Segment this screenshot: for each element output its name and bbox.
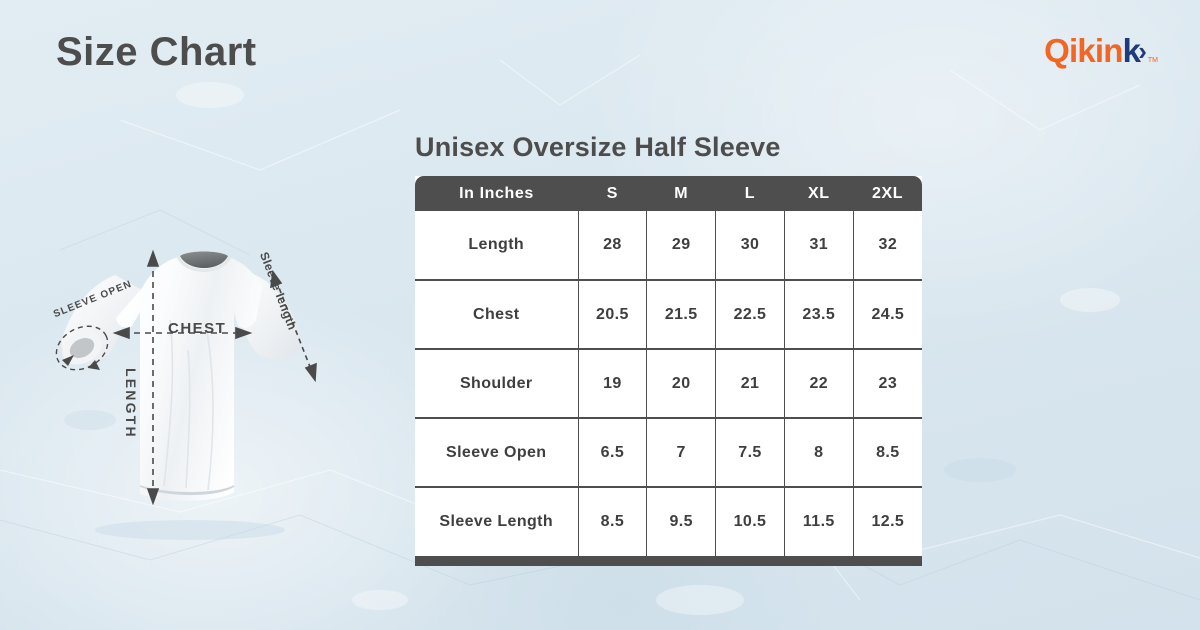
- table-title: Unisex Oversize Half Sleeve: [415, 132, 922, 163]
- cell-sleeve-open-s: 6.5: [578, 418, 647, 487]
- table-row: Shoulder 19 20 21 22 23: [415, 349, 922, 418]
- cell-shoulder-s: 19: [578, 349, 647, 418]
- cell-shoulder-2xl: 23: [853, 349, 922, 418]
- cell-shoulder-m: 20: [647, 349, 716, 418]
- cell-sleeve-length-l: 10.5: [716, 487, 785, 556]
- column-header-l: L: [716, 176, 785, 211]
- column-header-m: M: [647, 176, 716, 211]
- row-label-chest: Chest: [415, 280, 578, 349]
- cell-sleeve-length-s: 8.5: [578, 487, 647, 556]
- table-row: Sleeve Open 6.5 7 7.5 8 8.5: [415, 418, 922, 487]
- table-body: Length 28 29 30 31 32 Chest 20.5 21.5 22…: [415, 211, 922, 556]
- table-header-row: In Inches S M L XL 2XL: [415, 176, 922, 211]
- row-label-shoulder: Shoulder: [415, 349, 578, 418]
- row-label-sleeve-open: Sleeve Open: [415, 418, 578, 487]
- size-chart-table: In Inches S M L XL 2XL Length 28 29 30 3…: [415, 176, 922, 556]
- cell-chest-l: 22.5: [716, 280, 785, 349]
- trademark-icon: TM: [1148, 57, 1158, 64]
- table-header: In Inches S M L XL 2XL: [415, 176, 922, 211]
- cell-sleeve-length-xl: 11.5: [784, 487, 853, 556]
- column-header-xl: XL: [784, 176, 853, 211]
- cell-chest-2xl: 24.5: [853, 280, 922, 349]
- qikink-logo[interactable]: Qikink › TM: [1044, 30, 1158, 70]
- size-chart-panel: Unisex Oversize Half Sleeve In Inches S …: [415, 132, 922, 566]
- cell-chest-m: 21.5: [647, 280, 716, 349]
- cell-sleeve-length-m: 9.5: [647, 487, 716, 556]
- cell-sleeve-open-m: 7: [647, 418, 716, 487]
- logo-orange-text: Qikin: [1044, 32, 1123, 69]
- cell-length-2xl: 32: [853, 211, 922, 280]
- label-length: LENGTH: [123, 368, 139, 439]
- cell-length-m: 29: [647, 211, 716, 280]
- table-row: Chest 20.5 21.5 22.5 23.5 24.5: [415, 280, 922, 349]
- cell-sleeve-open-l: 7.5: [716, 418, 785, 487]
- cell-shoulder-l: 21: [716, 349, 785, 418]
- tshirt-illustration: CHEST LENGTH SLEEVE OPEN Sleeve length: [20, 200, 400, 560]
- cell-length-s: 28: [578, 211, 647, 280]
- row-label-sleeve-length: Sleeve Length: [415, 487, 578, 556]
- cell-length-xl: 31: [784, 211, 853, 280]
- cell-shoulder-xl: 22: [784, 349, 853, 418]
- cell-chest-xl: 23.5: [784, 280, 853, 349]
- column-header-unit: In Inches: [415, 176, 578, 211]
- table-row: Sleeve Length 8.5 9.5 10.5 11.5 12.5: [415, 487, 922, 556]
- table-footer-bar: [415, 556, 922, 566]
- cell-sleeve-length-2xl: 12.5: [853, 487, 922, 556]
- label-chest: CHEST: [168, 320, 226, 337]
- cell-chest-s: 20.5: [578, 280, 647, 349]
- chevron-right-icon: ›: [1138, 38, 1147, 64]
- cell-sleeve-open-xl: 8: [784, 418, 853, 487]
- column-header-s: S: [578, 176, 647, 211]
- column-header-2xl: 2XL: [853, 176, 922, 211]
- cell-sleeve-open-2xl: 8.5: [853, 418, 922, 487]
- cell-length-l: 30: [716, 211, 785, 280]
- tshirt-graphic: [20, 200, 400, 560]
- row-label-length: Length: [415, 211, 578, 280]
- table-row: Length 28 29 30 31 32: [415, 211, 922, 280]
- page-title: Size Chart: [56, 30, 257, 75]
